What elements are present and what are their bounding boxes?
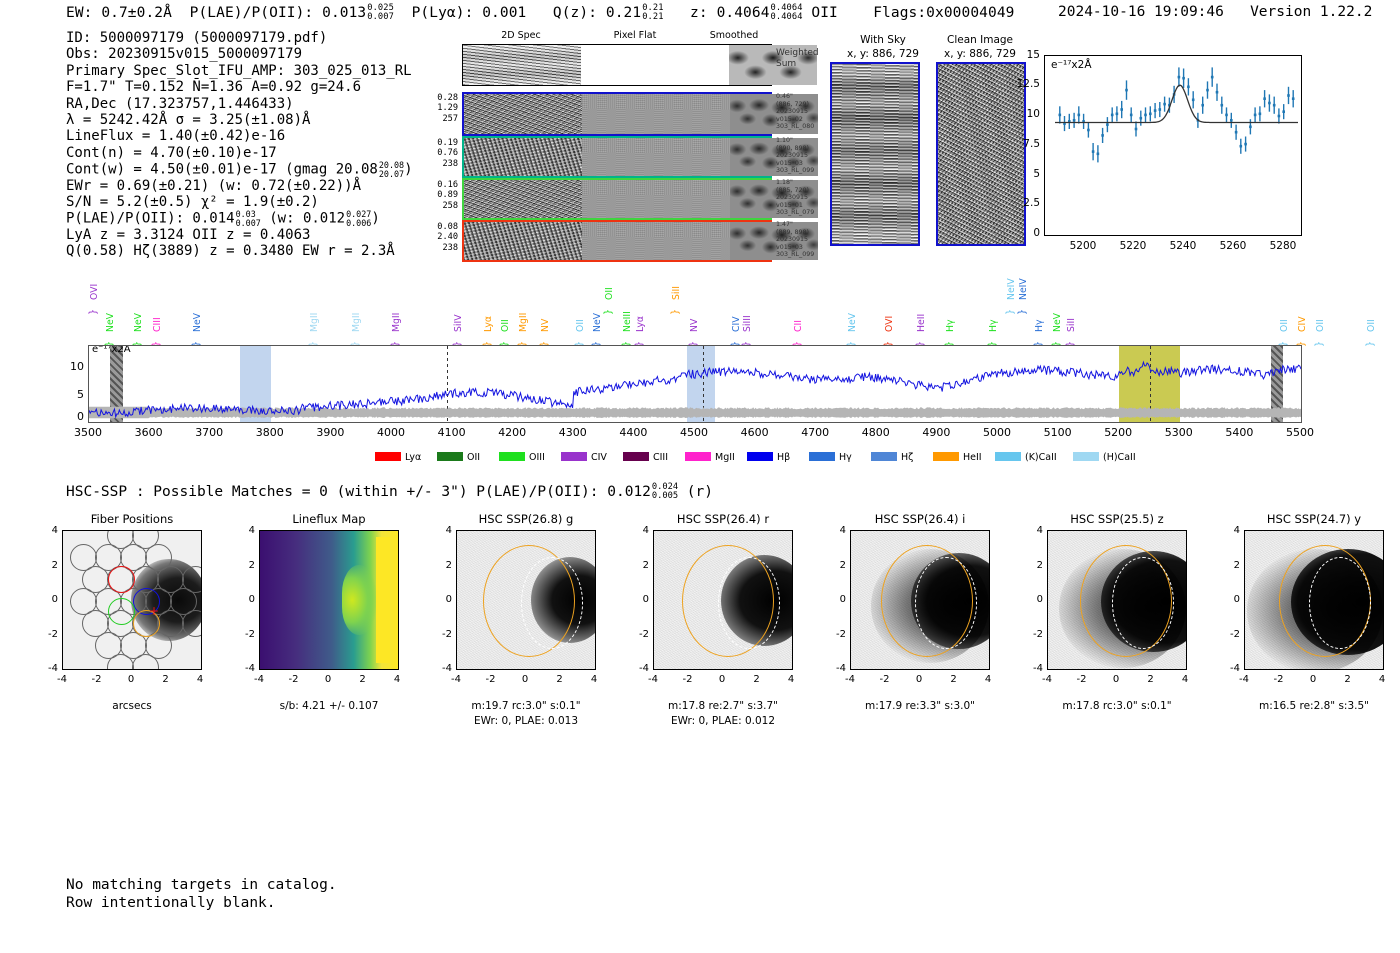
zoomplot-xtick: 5280 [1263,240,1303,252]
info-lambda: λ = 5242.42Å σ = 3.25(±1.08)Å [66,112,413,128]
spectrum-xtick: 4000 [377,426,405,439]
spec2d-weighted-sum-row [462,44,772,86]
fiber-pixelflat-image [582,180,730,218]
panel-ytick: -2 [40,629,58,640]
legend-item: Lyα [375,452,421,463]
header-z-value: 0.4064 [717,5,770,21]
panel-xtick: 2 [551,674,569,685]
emission-line-label: HeII [916,314,927,332]
spectrum-xtick: 3900 [316,426,344,439]
footer-line-1: No matching targets in catalog. [66,876,337,894]
zoomplot-xtick: 5260 [1213,240,1253,252]
spectrum-xtick: 5000 [983,426,1011,439]
spec2d-fiber-row [462,92,772,136]
panel-title: HSC SSP(26.8) g [434,512,618,526]
panel-ytick: 0 [1025,594,1043,605]
info-plae-w-lo: 0.006 [346,218,371,228]
with-sky-coords: x, y: 886, 729 [828,48,938,60]
emission-line-label: Hγ [1034,320,1045,333]
zoomplot-ytick: 7.5 [1000,138,1040,150]
legend-item: (H)CaII [1073,452,1136,463]
info-lineflux: LineFlux = 1.40(±0.42)e-16 [66,128,413,144]
panel-ytick: 4 [237,525,255,536]
legend-swatch [623,452,649,461]
header-plae-lo: 0.007 [367,12,394,22]
emission-line-label: CIV [1297,316,1308,332]
header-z-label: z: [690,5,708,21]
panel-ytick: 0 [40,594,58,605]
emission-line-label: SiIII [742,315,753,332]
info-cont-w-lo: 20.07 [379,169,404,179]
zoomplot-ytick: 5 [1000,168,1040,180]
lineflux-dark-blob [342,565,376,635]
weighted-sum-flat-blank [581,45,729,85]
legend-swatch [561,452,587,461]
cutout-panel: NE [653,530,793,670]
spec2d-title-smoothed: Smoothed [688,30,780,41]
info-cont-w: Cont(w) = 4.50(±0.01)e-17 (gmag 20.0820.… [66,161,413,177]
spec2d-fiber-row [462,136,772,178]
panel-ytick: 0 [434,594,452,605]
with-sky-title: With Sky [828,34,938,46]
info-ewr: EWr = 0.69(±0.21) (w: 0.72(±0.22))Å [66,178,413,194]
panel-xtick: 0 [713,674,731,685]
spectrum-xtick: 5500 [1286,426,1314,439]
emission-line-label: SiII [1066,318,1077,332]
spectrum-xtick: 3800 [256,426,284,439]
panel-ytick: 2 [1025,560,1043,571]
fiber-pixelflat-image [582,222,730,260]
emission-line-label: CII [793,320,804,332]
panel-ytick: 2 [1222,560,1240,571]
panel-caption-secondary: EWr: 0, PLAE: 0.013 [428,715,624,727]
panel-ytick: 0 [828,594,846,605]
legend-item: (K)CaII [995,452,1057,463]
info-plae: P(LAE)/P(OII): 0.0140.030.007 (w: 0.0120… [66,210,413,226]
cutout-panel: NE [1244,530,1384,670]
info-plae-pre: P(LAE)/P(OII): 0.014 [66,211,235,227]
emission-line-label: Lyα [635,316,646,332]
panel-caption: arcsecs [34,700,230,712]
fiber-pixelflat-image [582,94,730,134]
cutout-panel: NE [1047,530,1187,670]
panel-ytick: -2 [1025,629,1043,640]
panel-title: HSC SSP(24.7) y [1222,512,1400,526]
panel-xtick: 2 [354,674,372,685]
emission-line-label: MgII [351,313,362,332]
lineflux-bright-column [376,537,390,663]
panel-xtick: 2 [157,674,175,685]
info-id: ID: 5000097179 (5000097179.pdf) [66,30,413,46]
panel-title: HSC SSP(26.4) i [828,512,1012,526]
panel-ytick: -2 [828,629,846,640]
header-plya: P(Lyα): 0.001 [412,5,527,21]
contour-dashed [1112,557,1174,649]
emission-line-label: NV [689,319,700,332]
spec2d-fiber-row [462,220,772,262]
panel-caption: m:19.7 rc:3.0" s:0.1" [428,700,624,712]
panel-ytick: 4 [40,525,58,536]
legend-swatch [995,452,1021,461]
panel-xtick: -4 [447,674,465,685]
spectrum-legend: LyαOIIOIIICIVCIIIMgIIHβHγHζHeII(K)CaII(H… [0,452,1400,468]
panel-title: Lineflux Map [237,512,421,526]
panel-xtick: -4 [1235,674,1253,685]
header-qz-lo: 0.21 [642,12,663,22]
fiber-circle [182,610,202,637]
panel-xtick: -2 [482,674,500,685]
emission-line-label: OII [1279,319,1290,332]
header-datetime: 2024-10-16 19:09:46 [1058,4,1224,20]
info-cont-w-post: ) [404,162,412,178]
emission-line-label: Hγ [988,320,999,333]
panel-xtick: 0 [516,674,534,685]
info-snr: S/N = 5.2(±0.5) χ² = 1.9(±0.2) [66,194,413,210]
panel-xtick: 4 [1176,674,1194,685]
panel-ytick: 2 [434,560,452,571]
fiber-pixelflat-image [582,138,730,176]
emission-line-bracket: } [1365,341,1376,347]
panel-caption: m:16.5 re:2.8" s:3.5" [1216,700,1400,712]
with-sky-image [830,62,920,246]
hsc-ssp-summary: HSC-SSP : Possible Matches = 0 (within +… [66,483,713,501]
panel-xtick: 4 [979,674,997,685]
info-primary-spec: Primary Spec_Slot_IFU_AMP: 303_025_013_R… [66,63,413,79]
spectrum-units-annotation: e⁻¹⁷x2Å [92,345,131,355]
legend-swatch [871,452,897,461]
emission-line-label: OII [575,319,586,332]
panel-xtick: 0 [910,674,928,685]
spectrum-xtick: 4500 [680,426,708,439]
spectrum-xtick: 4100 [438,426,466,439]
legend-swatch [685,452,711,461]
panel-title: Fiber Positions [40,512,224,526]
emission-line-label: Lyα [483,316,494,332]
info-cont-w-pre: Cont(w) = 4.50(±0.01)e-17 (gmag 20.08 [66,162,378,178]
legend-swatch [1073,452,1099,461]
panel-title: HSC SSP(25.5) z [1025,512,1209,526]
spectrum-xtick: 5100 [1044,426,1072,439]
header-plae-value: 0.013 [322,5,366,21]
spectrum-xtick: 4300 [559,426,587,439]
panel-xtick: -2 [1073,674,1091,685]
contour-dashed [718,557,780,649]
fiber-circle-highlight-green [108,598,135,625]
fiber-right-meta: 1.47" (889, 898) 20230915 v015_03 303_RL… [776,221,838,259]
cutout-panel: NE [850,530,990,670]
spectrum-xtick: 4800 [862,426,890,439]
header-qz-label: Q(z): [553,5,597,21]
panel-ytick: -2 [434,629,452,640]
spectrum-xtick: 5400 [1225,426,1253,439]
emission-line-label: NV [540,319,551,332]
legend-swatch [809,452,835,461]
panel-ytick: 2 [40,560,58,571]
legend-item: HeII [933,452,982,463]
source-info-block: ID: 5000097179 (5000097179.pdf) Obs: 202… [66,30,413,259]
panel-xtick: 0 [122,674,140,685]
info-plae-mid: (w: 0.012 [261,211,345,227]
zoomplot-ytick: 0 [1000,227,1040,239]
panel-ytick: -2 [631,629,649,640]
spectrum-xtick: 4400 [619,426,647,439]
zoomplot-ytick: 12.5 [1000,78,1040,90]
panel-xtick: -2 [285,674,303,685]
panel-xtick: 4 [191,674,209,685]
header-timestamp-version: 2024-10-16 19:09:46 Version 1.22.2 [1058,4,1372,20]
panel-ytick: 2 [631,560,649,571]
spectrum-xtick: 3500 [74,426,102,439]
panel-ytick: 2 [828,560,846,571]
header-summary-line: EW: 0.7±0.2Å P(LAE)/P(OII): 0.0130.0250.… [66,4,1014,22]
panel-xtick: -4 [644,674,662,685]
info-radec: RA,Dec (17.323757,1.446433) [66,96,413,112]
weighted-sum-2dspec-image [463,45,581,85]
spectrum-svg [89,346,1301,422]
legend-swatch [375,452,401,461]
panel-ytick: -4 [434,663,452,674]
emission-line-label: CIII [152,317,163,332]
panel-ytick: -4 [237,663,255,674]
header-version: Version 1.22.2 [1250,4,1372,20]
cutout-panel: NE [456,530,596,670]
2d-spectrum-panel: 2D Spec Pixel Flat Smoothed Weighted Sum… [420,30,820,255]
legend-swatch [747,452,773,461]
panel-ytick: 4 [828,525,846,536]
emission-line-label: NeV [847,313,858,332]
contour-dashed [915,557,977,649]
spectrum-xtick: 3600 [135,426,163,439]
header-plae-label: P(LAE)/P(OII): [190,5,314,21]
info-seeing: F=1.7" T=0.152 N̄=1.36 A=0.92 g=24.6 [66,79,413,95]
emission-line-label: NeV [192,313,203,332]
info-q-line: Q(0.58) Hζ(3889) z = 0.3480 EW r = 2.3Å [66,243,413,259]
panel-xtick: 4 [782,674,800,685]
hsc-prefix: HSC-SSP : Possible Matches = 0 (within +… [66,484,599,500]
spec2d-title-pixelflat: Pixel Flat [580,30,690,41]
spectrum-xtick: 4200 [498,426,526,439]
legend-item: MgII [685,452,735,463]
panel-title: HSC SSP(26.4) r [631,512,815,526]
emission-line-label: OII [1315,319,1326,332]
header-z-lo: 0.4064 [771,12,803,22]
spectrum-xtick: 3700 [195,426,223,439]
panel-xtick: -2 [876,674,894,685]
contour-dashed [521,557,583,649]
fiber-2dspec-image [464,138,582,176]
hsc-lo: 0.005 [652,491,678,501]
emission-line-label: OII [1366,319,1377,332]
emission-line-label: SiII [671,286,682,300]
header-flags: Flags:0x00004049 [873,5,1014,21]
panel-xtick: 0 [1107,674,1125,685]
legend-item: OIII [499,452,545,463]
zoomplot-xtick: 5240 [1163,240,1203,252]
spectrum-ytick: 0 [56,410,84,423]
panel-ytick: -4 [1025,663,1043,674]
panel-ytick: -4 [631,663,649,674]
footer-note: No matching targets in catalog. Row inte… [66,876,337,912]
spec2d-title-2dspec: 2D Spec [462,30,580,41]
spectrum-xtick: 4900 [922,426,950,439]
zoomplot-xtick: 5200 [1063,240,1103,252]
panel-ytick: -4 [40,663,58,674]
emission-line-label: NeIV [1006,278,1017,300]
panel-xtick: 2 [1142,674,1160,685]
emission-line-label: NeV [1052,313,1063,332]
emission-line-label: OVI [89,284,100,300]
emission-line-label: NeIII [622,311,633,332]
panel-xtick: -2 [1270,674,1288,685]
legend-item: Hβ [747,452,790,463]
emission-line-bracket: } [670,309,681,315]
legend-swatch [933,452,959,461]
spectrum-ytick: 5 [56,388,84,401]
panel-ytick: 4 [434,525,452,536]
fiber-2dspec-image [464,180,582,218]
panel-ytick: -4 [828,663,846,674]
panel-xtick: 4 [585,674,603,685]
info-cont-n: Cont(n) = 4.70(±0.10)e-17 [66,145,413,161]
emission-line-label: NeV [592,313,603,332]
spectrum-xtick: 5200 [1104,426,1132,439]
footer-line-2: Row intentionally blank. [66,894,337,912]
line-profile-chart: e⁻¹⁷x2Å [1044,55,1302,236]
emission-line-bracket: } [1017,309,1028,315]
panel-ytick: 2 [237,560,255,571]
panel-xtick: 4 [1373,674,1391,685]
fiber-left-values: 0.16 0.89 258 [420,180,458,211]
fiber-left-values: 0.19 0.76 238 [420,138,458,169]
legend-item: CIII [623,452,668,463]
hsc-value: 0.012 [607,484,651,500]
cutout-panel: NE [259,530,399,670]
fiber-right-meta: 1.10" (890, 898) 20230915 v015_03 303_RL… [776,137,838,175]
panel-ytick: 4 [631,525,649,536]
emission-line-bracket: } [88,309,99,315]
zoomplot-ytick: 10 [1000,108,1040,120]
legend-item: Hζ [871,452,913,463]
emission-line-label: NeIV [1018,278,1029,300]
zoomplot-xtick: 5220 [1113,240,1153,252]
full-spectrum-chart: e⁻¹⁷x2Å [88,345,1302,423]
panel-xtick: 4 [388,674,406,685]
panel-ytick: 0 [631,594,649,605]
fiber-left-values: 0.08 2.40 238 [420,222,458,253]
zoomplot-svg [1045,56,1303,237]
emission-line-label: OII [500,319,511,332]
spec2d-fiber-row [462,178,772,220]
legend-swatch [499,452,525,461]
fiber-right-meta: 0.46" (886, 729) 20230915 v015_02 303_RL… [776,93,838,131]
emission-line-label: CIV [731,316,742,332]
emission-line-labels: NeV}NeV}CIII}NeV}MgII}MgII}MgII}SiIV}Lyα… [0,268,1400,346]
emission-line-label: MgII [518,313,529,332]
panel-xtick: -4 [1038,674,1056,685]
panel-xtick: 2 [945,674,963,685]
emission-line-bracket: } [1005,309,1016,315]
header-qz-value: 0.21 [606,5,641,21]
spectrum-xtick: 5300 [1165,426,1193,439]
zoomplot-ytick: 15 [1000,49,1040,61]
panel-ytick: 4 [1222,525,1240,536]
panel-xtick: -4 [841,674,859,685]
target-cross-marker: + [149,604,159,618]
panel-ytick: 0 [237,594,255,605]
info-obs: Obs: 20230915v015_5000097179 [66,46,413,62]
legend-swatch [437,452,463,461]
info-plae-post: ) [371,211,379,227]
panel-xtick: 2 [748,674,766,685]
emission-line-label: MgII [309,313,320,332]
fiber-circle-highlight-red [108,566,135,593]
emission-line-label: NeV [105,313,116,332]
emission-line-label: Hγ [945,320,956,333]
header-z-species: OII [811,5,838,21]
legend-item: Hγ [809,452,852,463]
emission-line-label: SiIV [453,314,464,332]
legend-item: OII [437,452,480,463]
panel-ytick: 0 [1222,594,1240,605]
fiber-right-meta: 1.18" (885, 720) 20230915 v015_01 303_RL… [776,179,838,217]
panel-caption: m:17.8 re:2.7" s:3.7" [625,700,821,712]
fiber-2dspec-image [464,94,582,134]
hsc-suffix: (r) [687,484,713,500]
fiber-2dspec-image [464,222,582,260]
panel-caption: m:17.9 re:3.3" s:3.0" [822,700,1018,712]
emission-line-label: OII [604,287,615,300]
panel-xtick: -4 [53,674,71,685]
panel-caption: m:17.8 rc:3.0" s:0.1" [1019,700,1215,712]
spectrum-x-axis-labels: 3500360037003800390040004100420043004400… [0,426,1400,442]
panel-caption: s/b: 4.21 +/- 0.107 [231,700,427,712]
panel-xtick: 0 [319,674,337,685]
clean-image-title: Clean Image [925,34,1035,46]
legend-item: CIV [561,452,607,463]
header-ew: EW: 0.7±0.2Å [66,5,172,21]
panel-ytick: -2 [237,629,255,640]
panel-xtick: -2 [679,674,697,685]
panel-ytick: 4 [1025,525,1043,536]
panel-ytick: -2 [1222,629,1240,640]
info-redshifts: LyA z = 3.3124 OII z = 0.4063 [66,227,413,243]
emission-line-label: OVI [884,316,895,332]
emission-line-bracket: } [1314,341,1325,347]
spectrum-xtick: 4700 [801,426,829,439]
panel-ytick: -4 [1222,663,1240,674]
panel-caption-secondary: EWr: 0, PLAE: 0.012 [625,715,821,727]
cutout-panel: +NE [62,530,202,670]
spectrum-ytick: 10 [56,360,84,373]
emission-line-label: MgII [391,313,402,332]
emission-line-label: NeV [133,313,144,332]
spectrum-xtick: 4600 [741,426,769,439]
panel-xtick: -2 [88,674,106,685]
fiber-left-values: 0.28 1.29 257 [420,93,458,124]
panel-xtick: -4 [250,674,268,685]
panel-xtick: 0 [1304,674,1322,685]
panel-xtick: 2 [1339,674,1357,685]
contour-dashed [1309,557,1371,649]
zoomplot-ytick: 2.5 [1000,197,1040,209]
emission-line-bracket: } [603,309,614,315]
